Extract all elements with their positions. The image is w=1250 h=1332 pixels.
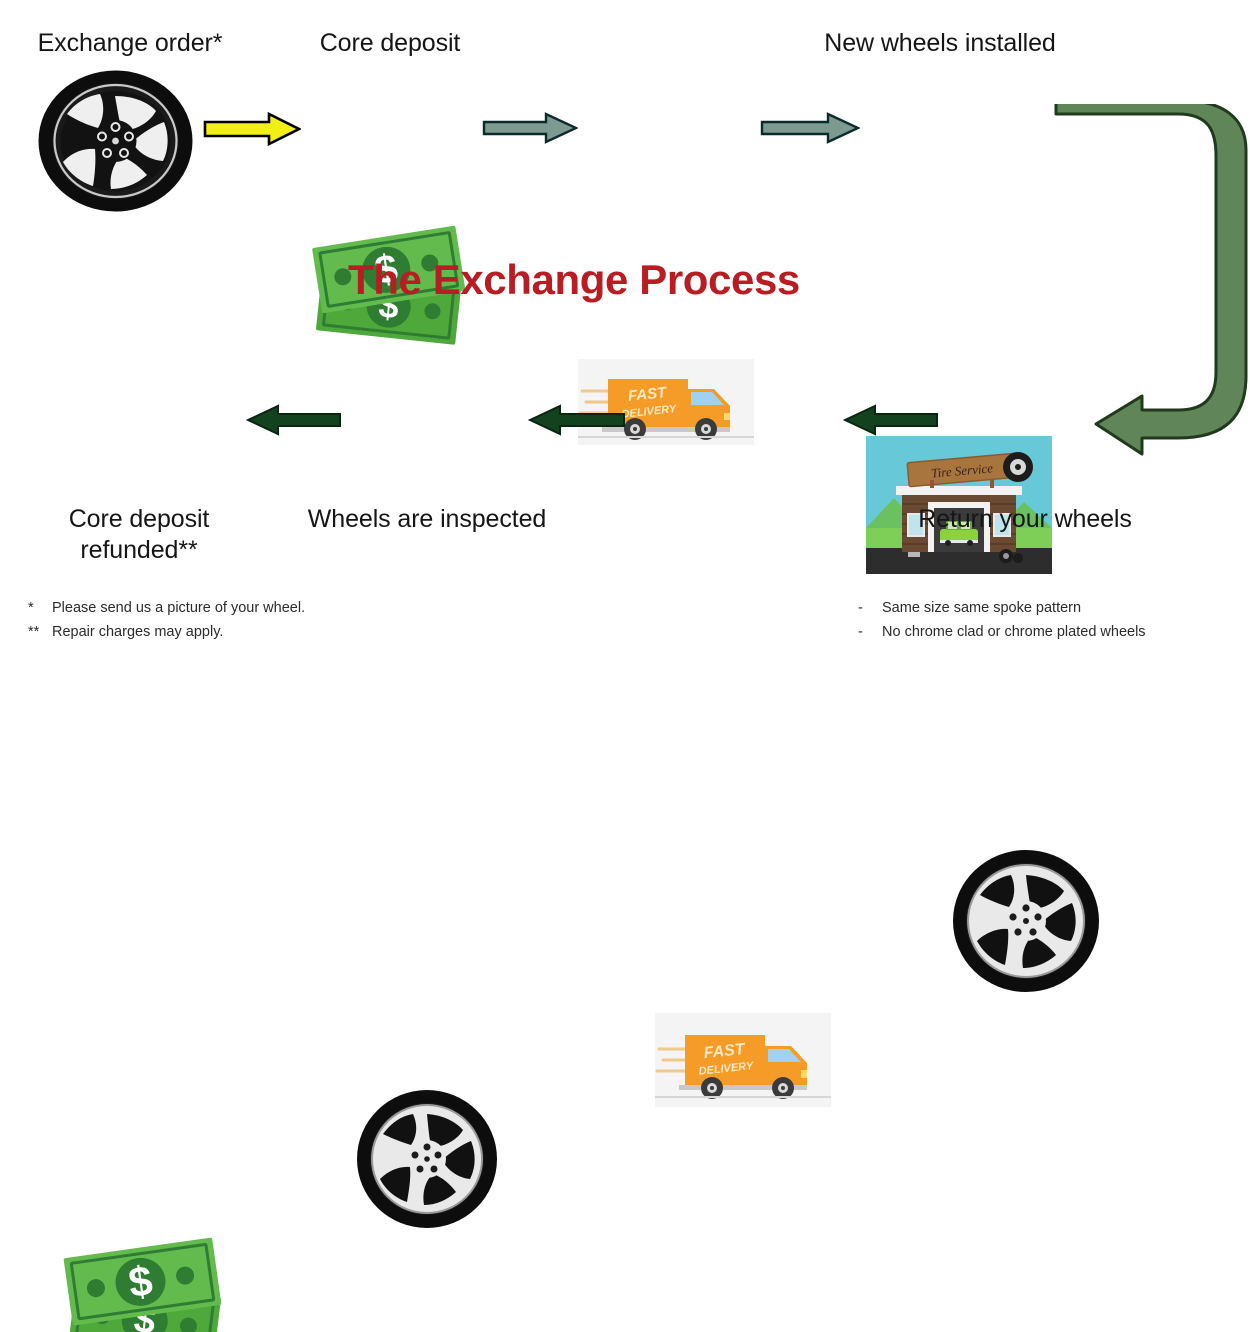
cash-icon-bottom: $ $	[58, 1227, 236, 1332]
arrow-truck-to-shop	[760, 112, 860, 144]
footnote-item: - Same size same spoke pattern	[858, 596, 1146, 620]
footnote-mark: **	[28, 620, 52, 644]
label-wheels-are-inspected: Wheels are inspected	[292, 504, 562, 535]
footnote-text: Same size same spoke pattern	[882, 596, 1081, 620]
footnote-item: * Please send us a picture of your wheel…	[28, 596, 305, 620]
page-title: The Exchange Process	[348, 256, 800, 304]
label-core-deposit-refunded: Core deposit refunded**	[30, 504, 248, 566]
footnote-mark: -	[858, 596, 882, 620]
footnote-text: Please send us a picture of your wheel.	[52, 596, 305, 620]
footnotes-left: * Please send us a picture of your wheel…	[28, 596, 305, 644]
footnote-mark: *	[28, 596, 52, 620]
wheel-light-icon-inspected	[356, 1089, 498, 1229]
footnotes-right: - Same size same spoke pattern - No chro…	[858, 596, 1146, 644]
label-return-your-wheels: Return your wheels	[880, 504, 1170, 535]
footnote-text: No chrome clad or chrome plated wheels	[882, 620, 1146, 644]
exchange-process-diagram: Exchange order* Core deposit New wheels …	[0, 0, 1250, 666]
delivery-truck-icon-bottom: FAST DELIVERY	[655, 1013, 831, 1107]
label-exchange-order: Exchange order*	[10, 28, 250, 59]
arrow-inspect-to-refund	[246, 404, 342, 436]
label-new-wheels-installed: New wheels installed	[795, 28, 1085, 59]
arrow-return-to-truck	[843, 404, 939, 436]
footnote-mark: -	[858, 620, 882, 644]
arrow-shop-to-return-curve	[1050, 104, 1250, 464]
arrow-truck-to-inspect	[528, 404, 626, 436]
wheel-dark-icon	[38, 70, 193, 212]
wheel-light-icon-return	[952, 849, 1100, 993]
arrow-order-to-deposit	[203, 112, 301, 146]
arrow-deposit-to-truck	[482, 112, 578, 144]
footnote-text: Repair charges may apply.	[52, 620, 223, 644]
footnote-item: - No chrome clad or chrome plated wheels	[858, 620, 1146, 644]
footnote-item: ** Repair charges may apply.	[28, 620, 305, 644]
label-core-deposit: Core deposit	[285, 28, 495, 59]
